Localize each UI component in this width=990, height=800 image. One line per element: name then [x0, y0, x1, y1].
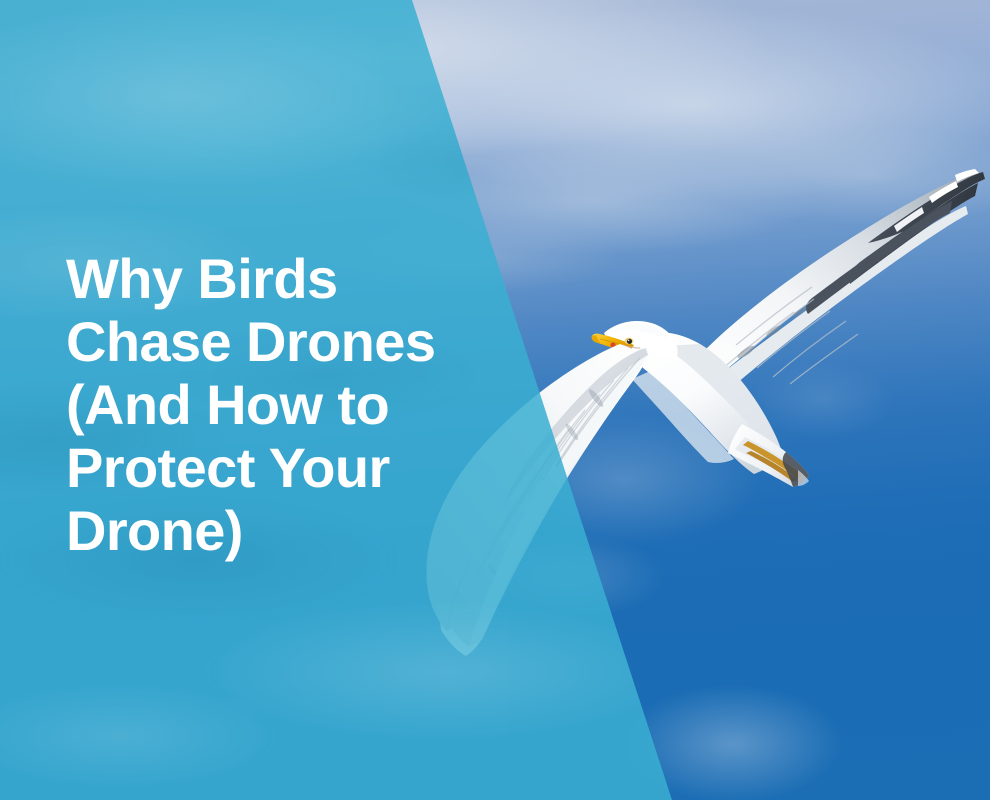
headline-line-4: Protect Your	[66, 436, 536, 499]
headline-line-3: (And How to	[66, 373, 536, 436]
seagull-upper-wing	[705, 169, 985, 399]
headline-line-5: Drone)	[66, 499, 536, 562]
headline-line-1: Why Birds	[66, 247, 536, 310]
headline-line-2: Chase Drones	[66, 310, 536, 373]
page-title: Why Birds Chase Drones (And How to Prote…	[66, 247, 536, 562]
blog-hero-banner: Why Birds Chase Drones (And How to Prote…	[0, 0, 990, 800]
